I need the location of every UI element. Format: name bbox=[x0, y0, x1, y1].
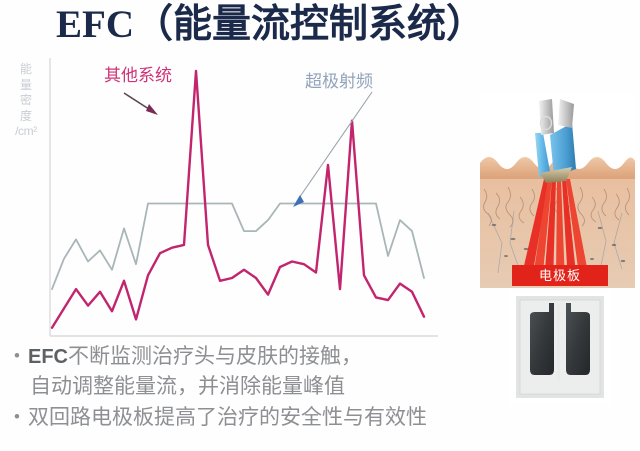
plot-area bbox=[48, 56, 440, 338]
handpiece-metal-right bbox=[558, 99, 574, 128]
pad-photo-svg bbox=[508, 292, 612, 404]
annotation-arrow-other-system bbox=[124, 93, 158, 115]
bullet-emphasis-efc: EFC bbox=[28, 346, 68, 368]
y-axis-label-char-1: 量 bbox=[13, 78, 39, 94]
energy-density-chart: 能 量 密 度 /cm² 其他系统 超极射频 bbox=[0, 52, 470, 344]
list-item-text: 双回路电极板提高了治疗的安全性与有效性 bbox=[28, 403, 486, 432]
y-axis-label-char-3: 度 bbox=[13, 109, 39, 125]
series-line-other-system bbox=[52, 71, 424, 328]
handpiece-device bbox=[535, 99, 576, 183]
treatment-illustration bbox=[480, 93, 635, 288]
page-title: EFC（能量流控制系统） bbox=[56, 2, 576, 50]
series-line-super-rf bbox=[52, 204, 424, 290]
electrode-pad-photo bbox=[508, 292, 612, 404]
bullet-marker: • bbox=[6, 403, 28, 432]
chart-svg bbox=[48, 56, 440, 338]
list-item: • 双回路电极板提高了治疗的安全性与有效性 bbox=[6, 403, 486, 432]
electrode-pad-caption: 电极板 bbox=[512, 265, 608, 286]
bullet-line-1: 不断监测治疗头与皮肤的接触， bbox=[68, 344, 362, 368]
electrode-pad-left bbox=[530, 303, 554, 375]
y-axis-label-char-0: 能 bbox=[13, 62, 39, 78]
bullet-line-2: 自动调整能量流，并消除能量峰值 bbox=[28, 372, 486, 401]
bullet-list: • EFC不断监测治疗头与皮肤的接触， 自动调整能量流，并消除能量峰值 • 双回… bbox=[6, 342, 486, 450]
illustration-svg bbox=[480, 93, 635, 288]
annotation-arrow-super-rf bbox=[293, 92, 372, 207]
list-item-text: EFC不断监测治疗头与皮肤的接触， 自动调整能量流，并消除能量峰值 bbox=[28, 342, 486, 401]
annotation-other-system: 其他系统 bbox=[104, 66, 172, 86]
list-item: • EFC不断监测治疗头与皮肤的接触， 自动调整能量流，并消除能量峰值 bbox=[6, 342, 486, 401]
y-axis-label: 能 量 密 度 /cm² bbox=[13, 62, 39, 140]
y-axis-unit: /cm² bbox=[13, 124, 39, 140]
annotation-super-rf: 超极射频 bbox=[305, 72, 373, 92]
bullet-line-1: 双回路电极板提高了治疗的安全性与有效性 bbox=[28, 405, 427, 429]
y-axis-label-char-2: 密 bbox=[13, 93, 39, 109]
electrode-pad-right bbox=[566, 303, 590, 375]
bullet-marker: • bbox=[6, 342, 28, 371]
